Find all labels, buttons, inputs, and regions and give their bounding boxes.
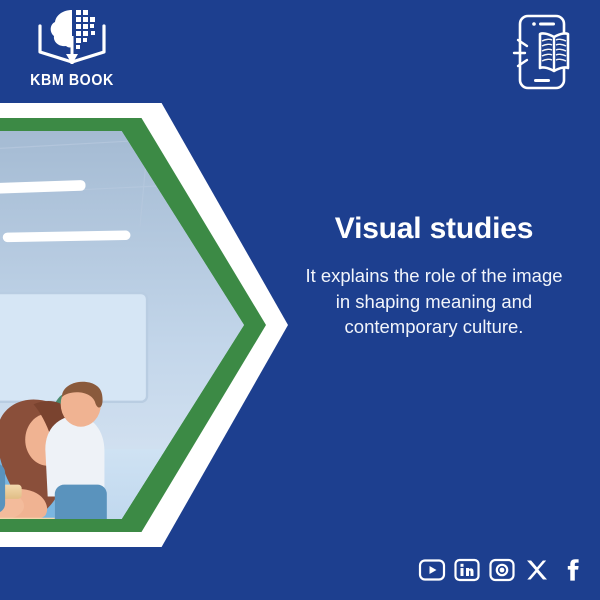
media-panel bbox=[0, 103, 288, 547]
youtube-icon[interactable] bbox=[418, 556, 446, 584]
brand-logo[interactable]: KBM BOOK bbox=[12, 6, 132, 90]
facebook-icon[interactable] bbox=[558, 556, 586, 584]
page-description: It explains the role of the image in sha… bbox=[300, 263, 568, 340]
x-icon[interactable] bbox=[523, 556, 551, 584]
copy-block: Visual studies It explains the role of t… bbox=[300, 212, 568, 340]
brain-book-logo-icon bbox=[30, 6, 114, 68]
linkedin-icon[interactable] bbox=[453, 556, 481, 584]
social-links bbox=[418, 556, 586, 584]
poster-canvas: KBM BOOK bbox=[0, 0, 600, 600]
page-title: Visual studies bbox=[300, 212, 568, 245]
brand-name: KBM BOOK bbox=[17, 72, 127, 90]
phone-ebook-icon bbox=[506, 12, 582, 92]
instagram-icon[interactable] bbox=[488, 556, 516, 584]
